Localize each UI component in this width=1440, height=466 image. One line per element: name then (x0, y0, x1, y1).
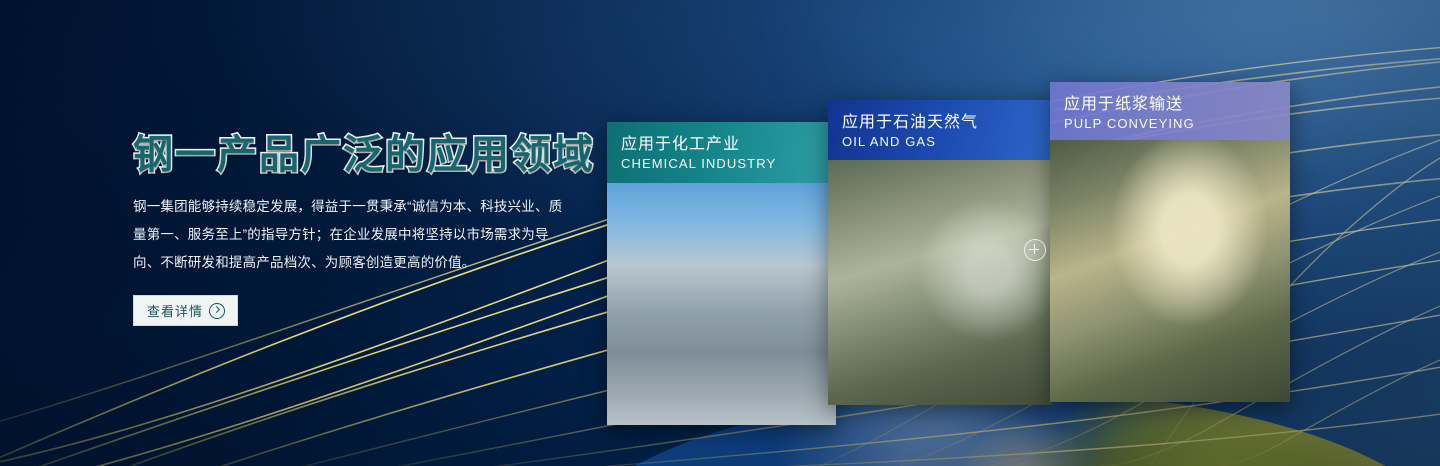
card-title-zh: 应用于纸浆输送 (1064, 94, 1290, 116)
view-details-button[interactable]: 查看详情 (133, 295, 238, 326)
view-details-label: 查看详情 (147, 301, 203, 320)
card-header-oilgas: 应用于石油天然气 OIL AND GAS (828, 100, 1052, 160)
pulp-roller-photo (1050, 140, 1290, 402)
page-title: 钢一产品广泛的应用领域 (133, 134, 583, 177)
banner-description: 钢一集团能够持续稳定发展，得益于一贯秉承“诚信为本、科技兴业、质量第一、服务至上… (133, 193, 573, 277)
banner-content: 钢一产品广泛的应用领域 钢一集团能够持续稳定发展，得益于一贯秉承“诚信为本、科技… (133, 134, 583, 326)
card-title-en: OIL AND GAS (842, 134, 1052, 151)
chevron-right-icon (209, 303, 225, 319)
zoom-plus-icon[interactable] (1024, 239, 1046, 261)
card-header-pulp: 应用于纸浆输送 PULP CONVEYING (1050, 82, 1290, 140)
application-card-oilgas[interactable]: 应用于石油天然气 OIL AND GAS (828, 100, 1052, 405)
card-header-chemical: 应用于化工产业 CHEMICAL INDUSTRY (607, 122, 836, 183)
card-title-en: PULP CONVEYING (1064, 116, 1290, 133)
application-card-pulp[interactable]: 应用于纸浆输送 PULP CONVEYING (1050, 82, 1290, 402)
card-title-zh: 应用于化工产业 (621, 134, 836, 156)
chemical-plant-photo (607, 183, 836, 425)
card-title-en: CHEMICAL INDUSTRY (621, 156, 836, 173)
application-card-chemical[interactable]: 应用于化工产业 CHEMICAL INDUSTRY (607, 122, 836, 425)
hero-banner: 钢一产品广泛的应用领域 钢一集团能够持续稳定发展，得益于一贯秉承“诚信为本、科技… (0, 0, 1440, 466)
oil-gas-pipes-photo (828, 160, 1052, 405)
card-title-zh: 应用于石油天然气 (842, 112, 1052, 134)
